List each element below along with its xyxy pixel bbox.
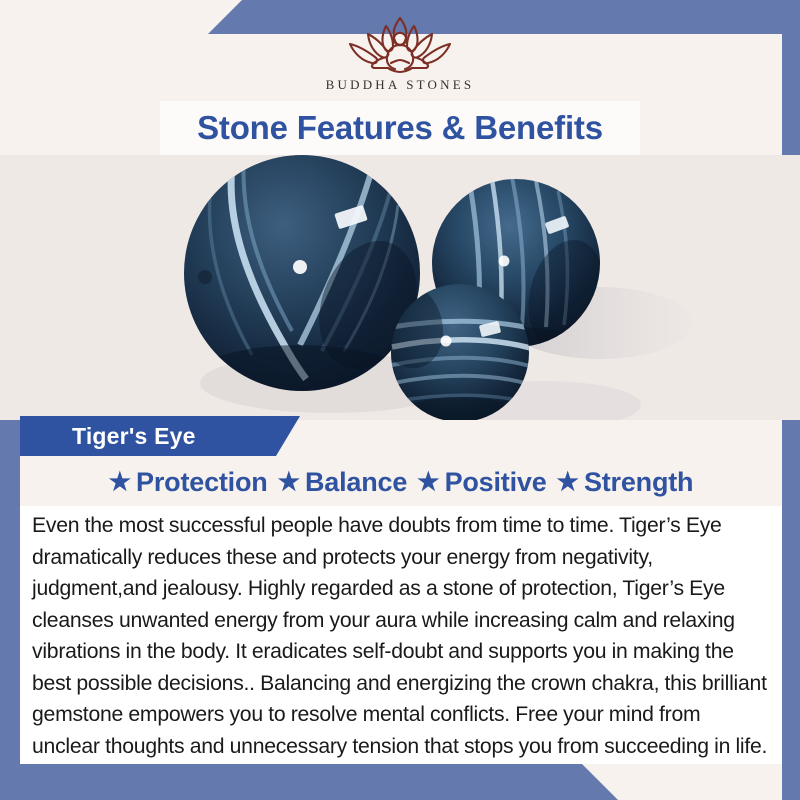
star-icon: ★ <box>557 470 579 495</box>
brand-logo: BUDDHA STONES <box>0 0 800 102</box>
benefit-label: Positive <box>445 467 547 498</box>
page-title: Stone Features & Benefits <box>197 109 603 147</box>
gemstone-spheres-image <box>0 155 800 420</box>
benefit-label: Balance <box>305 467 407 498</box>
decorative-bottom-bar <box>0 764 800 800</box>
title-banner: Stone Features & Benefits <box>160 101 640 155</box>
description-text: Even the most successful people have dou… <box>32 510 768 762</box>
benefit-item-positive: ★ Positive <box>417 467 546 498</box>
stone-name-label: Tiger's Eye <box>20 423 196 450</box>
star-icon: ★ <box>417 470 439 495</box>
poster-root: BUDDHA STONES Stone Features & Benefits <box>0 0 800 800</box>
star-icon: ★ <box>278 470 300 495</box>
lotus-meditation-icon <box>338 14 462 76</box>
benefit-item-strength: ★ Strength <box>557 467 694 498</box>
brand-name: BUDDHA STONES <box>326 77 475 93</box>
benefit-label: Protection <box>136 467 268 498</box>
benefit-item-protection: ★ Protection <box>109 467 268 498</box>
stone-name-ribbon: Tiger's Eye <box>20 416 300 456</box>
description-card: Even the most successful people have dou… <box>20 506 782 764</box>
benefit-label: Strength <box>584 467 693 498</box>
benefit-item-balance: ★ Balance <box>278 467 408 498</box>
benefits-list: ★ Protection ★ Balance ★ Positive ★ Stre… <box>20 458 782 506</box>
star-icon: ★ <box>109 470 131 495</box>
